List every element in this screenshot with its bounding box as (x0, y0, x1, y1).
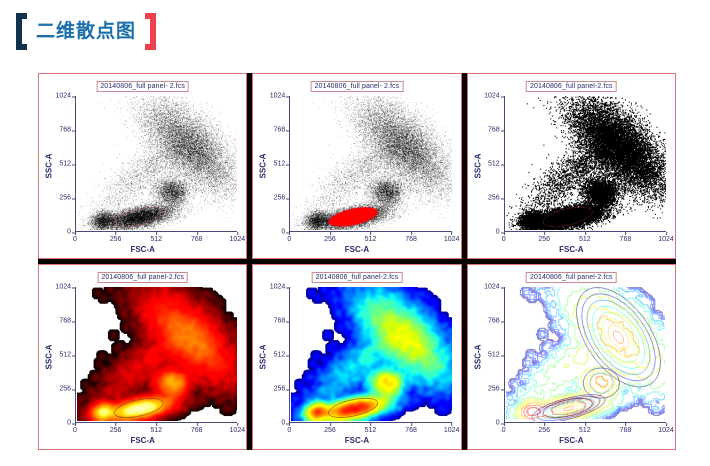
page-title: 二维散点图 (27, 13, 145, 50)
y-tick: 256 (274, 386, 286, 393)
contour-canvas (506, 287, 666, 421)
x-axis-label: FSC-A (468, 245, 675, 254)
y-tick: 1024 (484, 284, 500, 291)
x-tick: 0 (502, 236, 506, 243)
density-canvas (77, 287, 237, 421)
scatter-canvas (291, 96, 451, 230)
plot-canvas-host (506, 287, 666, 421)
x-tick: 0 (73, 427, 77, 434)
bracket-left-icon (16, 13, 27, 50)
x-tick: 512 (150, 427, 162, 434)
x-tick: 768 (620, 236, 632, 243)
y-tick: 768 (274, 318, 286, 325)
plot-area: 0 256 512 768 1024 0 256 512 768 1024 (289, 287, 451, 423)
density-canvas (291, 287, 451, 421)
y-tick: 256 (488, 195, 500, 202)
x-tick: 256 (110, 236, 122, 243)
x-axis-label: FSC-A (39, 245, 246, 254)
x-tick: 512 (579, 427, 591, 434)
plot-area: 0 256 512 768 1024 0 256 512 768 1024 (75, 287, 237, 423)
y-tick: 768 (488, 127, 500, 134)
plot-panel-3[interactable]: 20140806_full panel-2.fcs SSC-A FSC-A 0 … (467, 73, 676, 259)
y-tick: 0 (67, 229, 71, 236)
x-tick: 768 (405, 236, 417, 243)
x-axis-label: FSC-A (253, 436, 460, 445)
plot-area: 0 256 512 768 1024 0 256 512 768 1024 (504, 96, 666, 232)
bracket-right-icon (145, 13, 156, 50)
x-tick: 512 (150, 236, 162, 243)
y-tick: 512 (59, 352, 71, 359)
x-tick: 1024 (444, 236, 460, 243)
y-tick: 256 (59, 195, 71, 202)
y-tick: 256 (59, 386, 71, 393)
fcs-file-label: 20140806_full panel-2.fcs (97, 272, 188, 283)
x-tick: 1024 (230, 427, 246, 434)
fcs-file-label: 20140806_full panel-2.fcs (312, 272, 403, 283)
y-tick: 1024 (484, 93, 500, 100)
y-tick: 1024 (55, 284, 71, 291)
x-tick: 1024 (658, 427, 674, 434)
y-tick: 256 (274, 195, 286, 202)
x-tick: 1024 (444, 427, 460, 434)
x-tick: 256 (110, 427, 122, 434)
plot-canvas-host (77, 287, 237, 421)
x-tick: 0 (287, 427, 291, 434)
plot-panel-5[interactable]: 20140806_full panel-2.fcs SSC-A FSC-A 0 … (252, 264, 461, 450)
y-tick: 0 (281, 420, 285, 427)
y-tick: 1024 (55, 93, 71, 100)
scatter-canvas (506, 96, 666, 230)
y-tick: 0 (281, 229, 285, 236)
y-tick: 768 (488, 318, 500, 325)
y-tick: 256 (488, 386, 500, 393)
plot-panel-1[interactable]: 20140806_full panel- 2.fcs SSC-A FSC-A 0… (38, 73, 247, 259)
y-tick: 1024 (270, 93, 286, 100)
y-axis-label: SSC-A (45, 327, 54, 387)
y-tick: 768 (59, 318, 71, 325)
x-tick: 0 (287, 236, 291, 243)
x-axis-label: FSC-A (39, 436, 246, 445)
title-decoration: 二维散点图 (16, 13, 156, 50)
plot-canvas-host (291, 287, 451, 421)
y-axis-label: SSC-A (259, 327, 268, 387)
x-axis-label: FSC-A (468, 436, 675, 445)
x-tick: 512 (365, 236, 377, 243)
fcs-file-label: 20140806_full panel- 2.fcs (96, 81, 189, 92)
plot-panel-4[interactable]: 20140806_full panel-2.fcs SSC-A FSC-A 0 … (38, 264, 247, 450)
y-axis-label: SSC-A (473, 136, 482, 196)
x-tick: 0 (502, 427, 506, 434)
x-tick: 1024 (658, 236, 674, 243)
plot-panel-6[interactable]: 20140806_full panel-2.fcs SSC-A FSC-A 0 … (467, 264, 676, 450)
plot-canvas-host (291, 96, 451, 230)
y-tick: 0 (67, 420, 71, 427)
y-tick: 512 (59, 161, 71, 168)
y-tick: 768 (274, 127, 286, 134)
y-tick: 512 (488, 161, 500, 168)
scatter-plot-gallery: 20140806_full panel- 2.fcs SSC-A FSC-A 0… (38, 73, 676, 450)
scatter-canvas (77, 96, 237, 230)
x-tick: 256 (324, 236, 336, 243)
plot-panel-2[interactable]: 20140806_full panel- 2.fcs SSC-A FSC-A 0… (252, 73, 461, 259)
y-tick: 0 (496, 420, 500, 427)
plot-area: 0 256 512 768 1024 0 256 512 768 1024 (289, 96, 451, 232)
x-axis-label: FSC-A (253, 245, 460, 254)
page-header: 二维散点图 (0, 0, 710, 62)
x-tick: 256 (538, 236, 550, 243)
fcs-file-label: 20140806_full panel- 2.fcs (311, 81, 404, 92)
plot-area: 0 256 512 768 1024 0 256 512 768 1024 (504, 287, 666, 423)
y-axis-label: SSC-A (45, 136, 54, 196)
plot-canvas-host (77, 96, 237, 230)
x-tick: 768 (191, 236, 203, 243)
y-tick: 1024 (270, 284, 286, 291)
plot-area: 0 256 512 768 1024 0 256 512 768 1024 (75, 96, 237, 232)
x-tick: 768 (405, 427, 417, 434)
y-tick: 512 (488, 352, 500, 359)
x-tick: 512 (365, 427, 377, 434)
x-tick: 768 (191, 427, 203, 434)
x-tick: 768 (620, 427, 632, 434)
y-axis-label: SSC-A (259, 136, 268, 196)
plot-canvas-host (506, 96, 666, 230)
x-tick: 0 (73, 236, 77, 243)
fcs-file-label: 20140806_full panel-2.fcs (526, 81, 617, 92)
x-tick: 512 (579, 236, 591, 243)
x-tick: 1024 (230, 236, 246, 243)
y-tick: 0 (496, 229, 500, 236)
y-tick: 768 (59, 127, 71, 134)
y-tick: 512 (274, 161, 286, 168)
y-axis-label: SSC-A (473, 327, 482, 387)
y-tick: 512 (274, 352, 286, 359)
fcs-file-label: 20140806_full panel-2.fcs (526, 272, 617, 283)
x-tick: 256 (538, 427, 550, 434)
x-tick: 256 (324, 427, 336, 434)
